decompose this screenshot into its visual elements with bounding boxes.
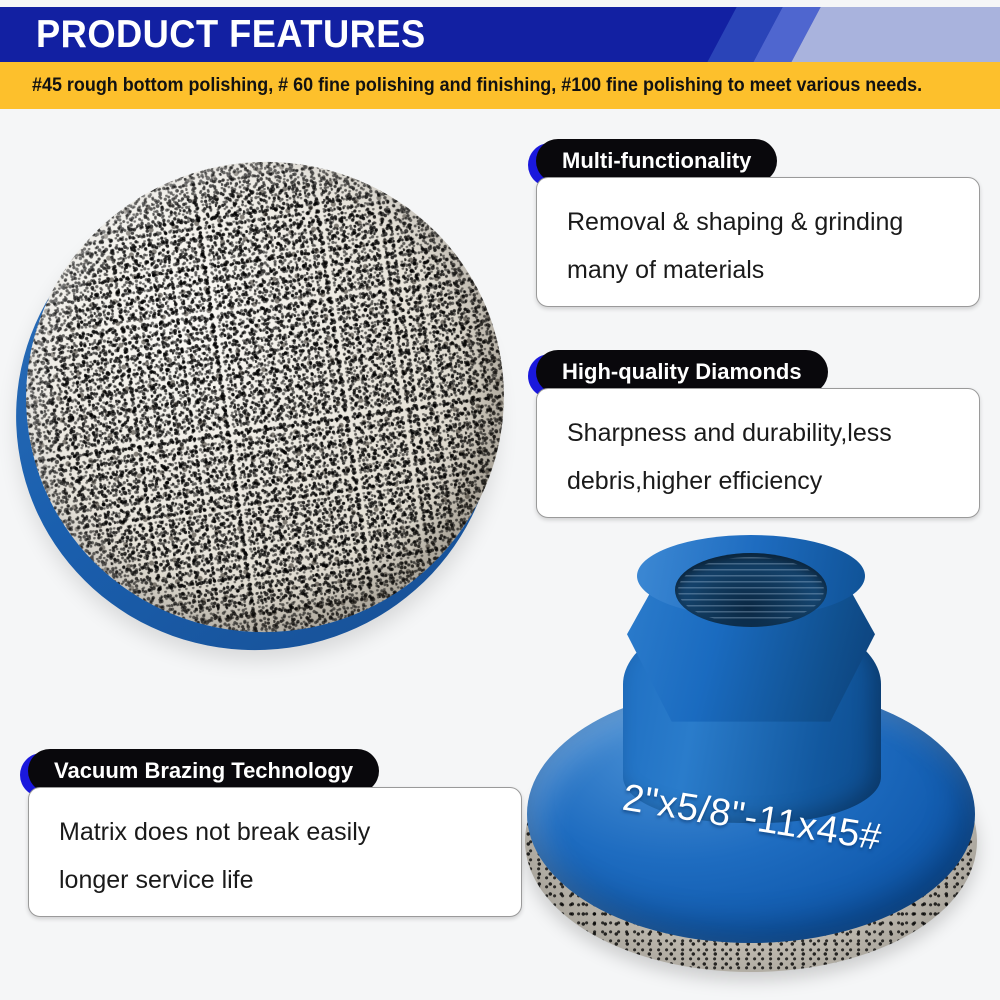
page-title: PRODUCT FEATURES <box>36 13 426 57</box>
header-blue-band: PRODUCT FEATURES <box>0 7 1000 62</box>
feature-body: Matrix does not break easily longer serv… <box>28 787 522 917</box>
feature-card-high-quality-diamonds: High-quality Diamonds Sharpness and dura… <box>536 350 980 518</box>
feature-text-line: Matrix does not break easily <box>59 808 495 856</box>
feature-text-line: Sharpness and durability,less <box>567 409 953 457</box>
feature-text-line: longer service life <box>59 856 495 904</box>
feature-text-line: Removal & shaping & grinding <box>567 198 953 246</box>
feature-card-multi-functionality: Multi-functionality Removal & shaping & … <box>536 139 980 307</box>
feature-text-line: debris,higher efficiency <box>567 457 953 505</box>
cup-wheel-thread-lines <box>678 557 824 623</box>
header-yellow-band: #45 rough bottom polishing, # 60 fine po… <box>0 62 1000 109</box>
product-photo-cup-wheel: 2"x5/8"-11x45# <box>515 535 995 997</box>
header-subtitle: #45 rough bottom polishing, # 60 fine po… <box>32 71 906 99</box>
page-header: PRODUCT FEATURES #45 rough bottom polish… <box>0 7 1000 109</box>
disc-grit-face <box>0 131 534 663</box>
feature-body: Sharpness and durability,less debris,hig… <box>536 388 980 518</box>
feature-card-vacuum-brazing-technology: Vacuum Brazing Technology Matrix does no… <box>28 749 522 917</box>
feature-text-line: many of materials <box>567 246 953 294</box>
product-photo-diamond-disc <box>10 150 530 670</box>
header-stripe-3 <box>783 7 1000 62</box>
feature-body: Removal & shaping & grinding many of mat… <box>536 177 980 307</box>
